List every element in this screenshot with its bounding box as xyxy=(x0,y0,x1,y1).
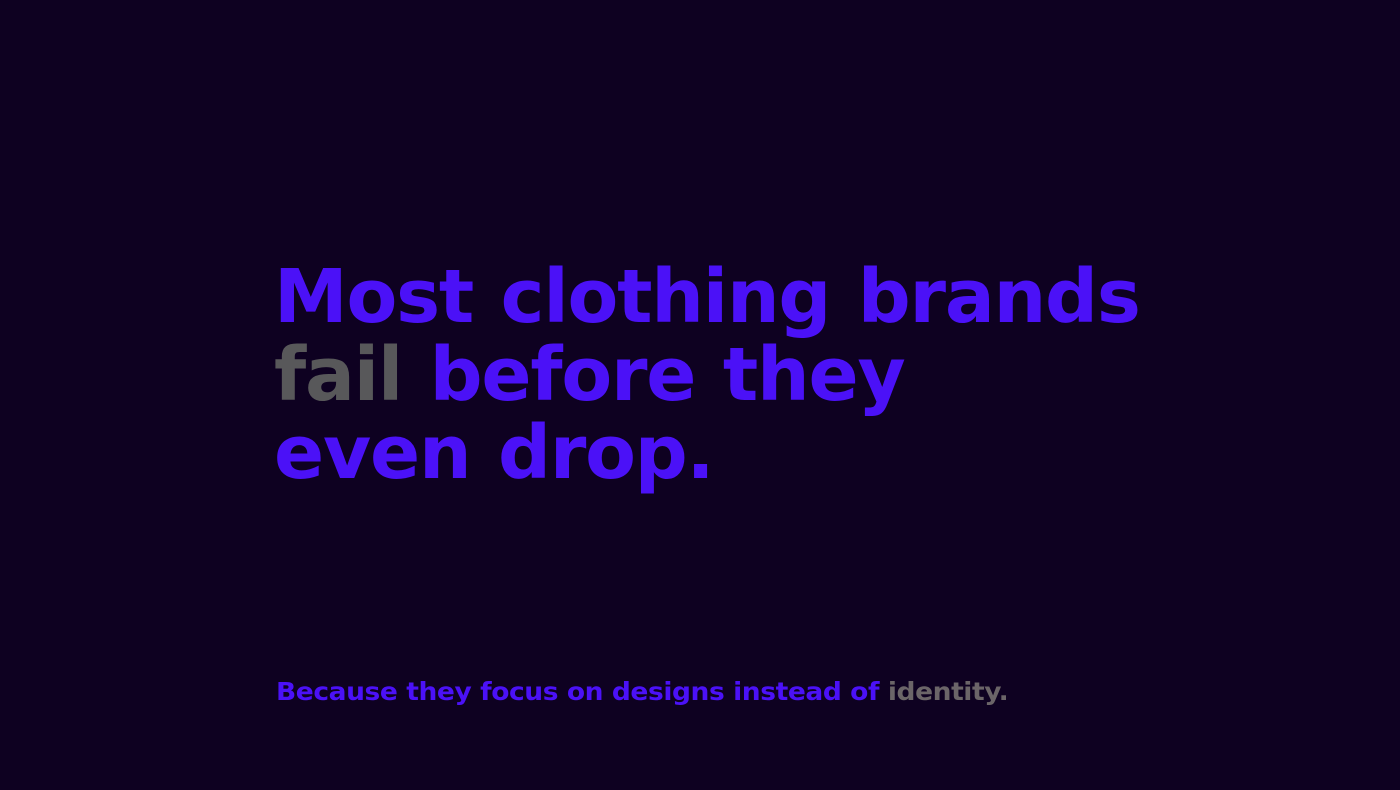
headline-line-2-accent: before they xyxy=(402,332,904,418)
headline-line-3: even drop. xyxy=(274,414,1174,492)
headline-line-1: Most clothing brands xyxy=(274,258,1174,336)
page-title: Most clothing brandsfail before theyeven… xyxy=(274,258,1174,492)
subtitle: Because they focus on designs instead of… xyxy=(276,676,1008,708)
headline-line-2: fail before they xyxy=(274,336,1174,414)
subtitle-muted-text: identity. xyxy=(888,677,1008,706)
headline-line-3-accent: even drop. xyxy=(274,410,713,496)
headline-line-2-muted: fail xyxy=(274,332,402,418)
headline-line-1-accent: Most clothing brands xyxy=(274,254,1140,340)
slide-canvas: Most clothing brandsfail before theyeven… xyxy=(0,0,1400,790)
subtitle-accent-text: Because they focus on designs instead of xyxy=(276,677,888,706)
